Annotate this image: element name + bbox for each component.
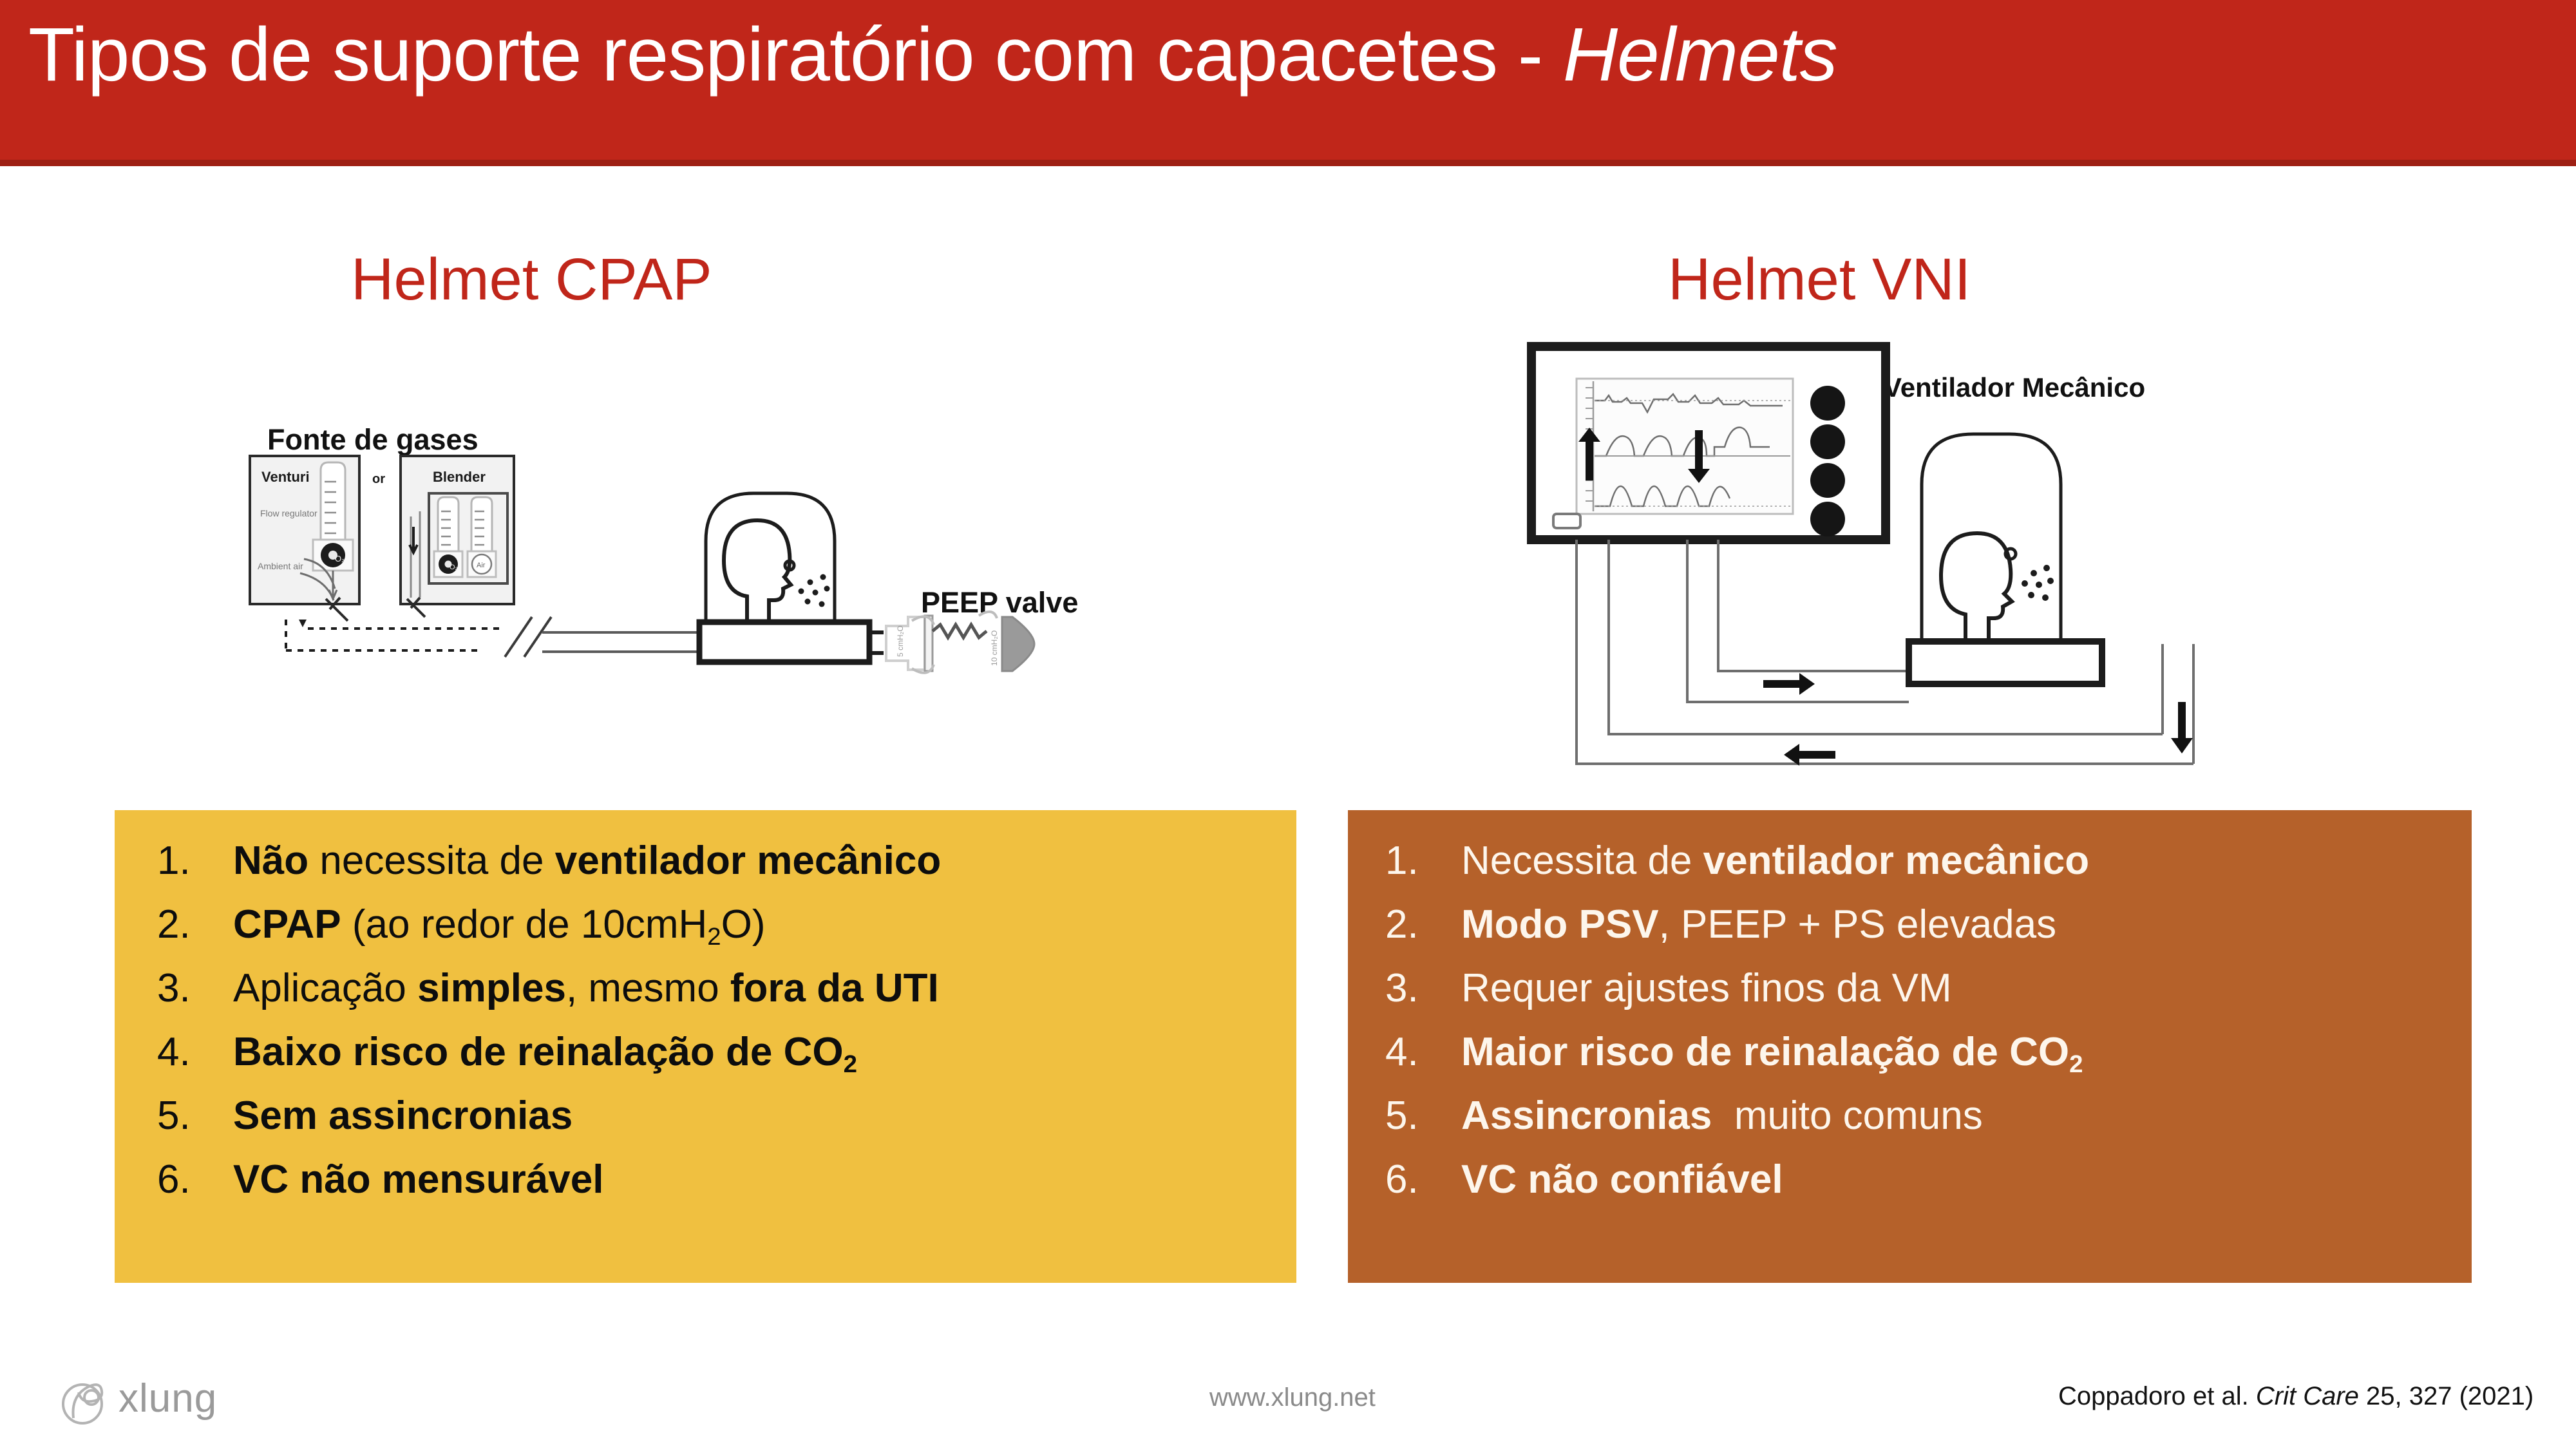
citation-volume-page-year: 25, 327 (2021): [2359, 1382, 2533, 1410]
list-item: 4. Maior risco de reinalação de CO2: [1385, 1032, 2083, 1077]
list-item: 5. Assincronias muito comuns: [1385, 1096, 1983, 1136]
list-item-text: Requer ajustes finos da VM: [1461, 969, 1952, 1009]
list-item: 2. Modo PSV, PEEP + PS elevadas: [1385, 905, 2056, 945]
peep-high-label: 10 cmH₂O: [990, 630, 999, 666]
xlung-wordmark: xlung: [118, 1376, 217, 1421]
list-item-number: 4.: [157, 1032, 233, 1072]
page-title-main: Tipos de suporte respiratório com capace…: [28, 12, 1563, 97]
list-item-number: 4.: [1385, 1032, 1461, 1072]
blender-panel: Blender O₂ Air: [401, 456, 514, 617]
list-item-text: Não necessita de ventilador mecânico: [233, 841, 941, 881]
footer-citation: Coppadoro et al. Crit Care 25, 327 (2021…: [2058, 1382, 2533, 1411]
helmet-collar: [699, 622, 869, 662]
ambient-air-label: Ambient air: [258, 561, 303, 571]
list-item-number: 3.: [1385, 969, 1461, 1009]
xlung-logo[interactable]: xlung: [57, 1370, 243, 1430]
vni-feature-list: 1. Necessita de ventilador mecânico 2. M…: [1348, 810, 2472, 1283]
peep-valve-assembly: 5 cmH₂O 10 cmH₂O: [886, 612, 1034, 673]
blender-label: Blender: [433, 469, 486, 485]
helmet-vni-diagram: [1526, 341, 2267, 792]
list-item-text: Sem assincronias: [233, 1096, 573, 1136]
peep-valve-cap: [1002, 617, 1034, 671]
list-item-text: Necessita de ventilador mecânico: [1461, 841, 2089, 881]
citation-journal: Crit Care: [2256, 1382, 2359, 1410]
venturi-panel: Venturi Flow regulator Ambient air O₂: [250, 456, 359, 621]
venturi-label: Venturi: [261, 469, 310, 485]
list-item-number: 5.: [1385, 1096, 1461, 1136]
list-item: 4. Baixo risco de reinalação de CO2: [157, 1032, 857, 1077]
list-item-text: Baixo risco de reinalação de CO2: [233, 1032, 857, 1077]
helmet-collar-vni: [1909, 641, 2102, 684]
list-item: 5. Sem assincronias: [157, 1096, 573, 1136]
list-item-number: 1.: [1385, 841, 1461, 881]
peep-low-label: 5 cmH₂O: [896, 625, 905, 657]
helmet-inlet-tubes: [542, 632, 701, 652]
cpap-feature-list: 1. Não necessita de ventilador mecânico …: [115, 810, 1296, 1283]
flow-regulator-label: Flow regulator: [260, 508, 317, 518]
blender-flowmeter-o2: O₂: [434, 497, 462, 577]
list-item: 1. Não necessita de ventilador mecânico: [157, 841, 941, 881]
list-item-number: 6.: [1385, 1160, 1461, 1200]
list-item-text: Assincronias muito comuns: [1461, 1096, 1983, 1136]
heading-helmet-vni: Helmet VNI: [1668, 246, 1971, 314]
list-item: 3. Requer ajustes finos da VM: [1385, 969, 1952, 1009]
list-item-number: 5.: [157, 1096, 233, 1136]
o2-knob-blender-label: O₂: [450, 563, 458, 571]
list-item-text: CPAP (ao redor de 10cmH2O): [233, 905, 766, 949]
list-item: 3. Aplicação simples, mesmo fora da UTI: [157, 969, 939, 1009]
list-item-number: 2.: [157, 905, 233, 945]
footer-url[interactable]: www.xlung.net: [1209, 1383, 1376, 1412]
list-item: 1. Necessita de ventilador mecânico: [1385, 841, 2089, 881]
mechanical-ventilator: [1531, 346, 1886, 540]
list-item-text: Aplicação simples, mesmo fora da UTI: [233, 969, 939, 1009]
list-item-number: 3.: [157, 969, 233, 1009]
ventilator-waveform-screen: [1577, 379, 1793, 514]
list-item-text: Maior risco de reinalação de CO2: [1461, 1032, 2083, 1077]
o2-knob-venturi-label: O₂: [335, 554, 345, 563]
page-title-emphasis: Helmets: [1563, 12, 1837, 97]
list-item: 2. CPAP (ao redor de 10cmH2O): [157, 905, 766, 949]
blender-flowmeter-air: Air: [468, 497, 496, 577]
dashed-line-arrow: [299, 620, 307, 627]
title-bar: Tipos de suporte respiratório com capace…: [0, 0, 2576, 166]
list-item-text: VC não confiável: [1461, 1160, 1783, 1200]
ventilator-indicator: [1553, 514, 1580, 528]
list-item: 6. VC não confiável: [1385, 1160, 1783, 1200]
air-knob-label: Air: [477, 562, 486, 569]
or-conjunction: or: [372, 472, 385, 486]
heading-helmet-cpap: Helmet CPAP: [351, 246, 712, 314]
helmet-cpap-diagram: Venturi Flow regulator Ambient air O₂ or: [245, 444, 1082, 753]
list-item-number: 6.: [157, 1160, 233, 1200]
list-item-text: VC não mensurável: [233, 1160, 603, 1200]
list-item-number: 1.: [157, 841, 233, 881]
list-item-number: 2.: [1385, 905, 1461, 945]
list-item: 6. VC não mensurável: [157, 1160, 603, 1200]
xlung-mark-icon: [57, 1370, 115, 1430]
page-title: Tipos de suporte respiratório com capace…: [28, 15, 1837, 95]
peep-valve-spring: [933, 625, 987, 638]
citation-authors: Coppadoro et al.: [2058, 1382, 2256, 1410]
gas-supply-dashed-line: [286, 620, 501, 650]
list-item-text: Modo PSV, PEEP + PS elevadas: [1461, 905, 2056, 945]
title-bottom-rule: [0, 160, 2576, 166]
